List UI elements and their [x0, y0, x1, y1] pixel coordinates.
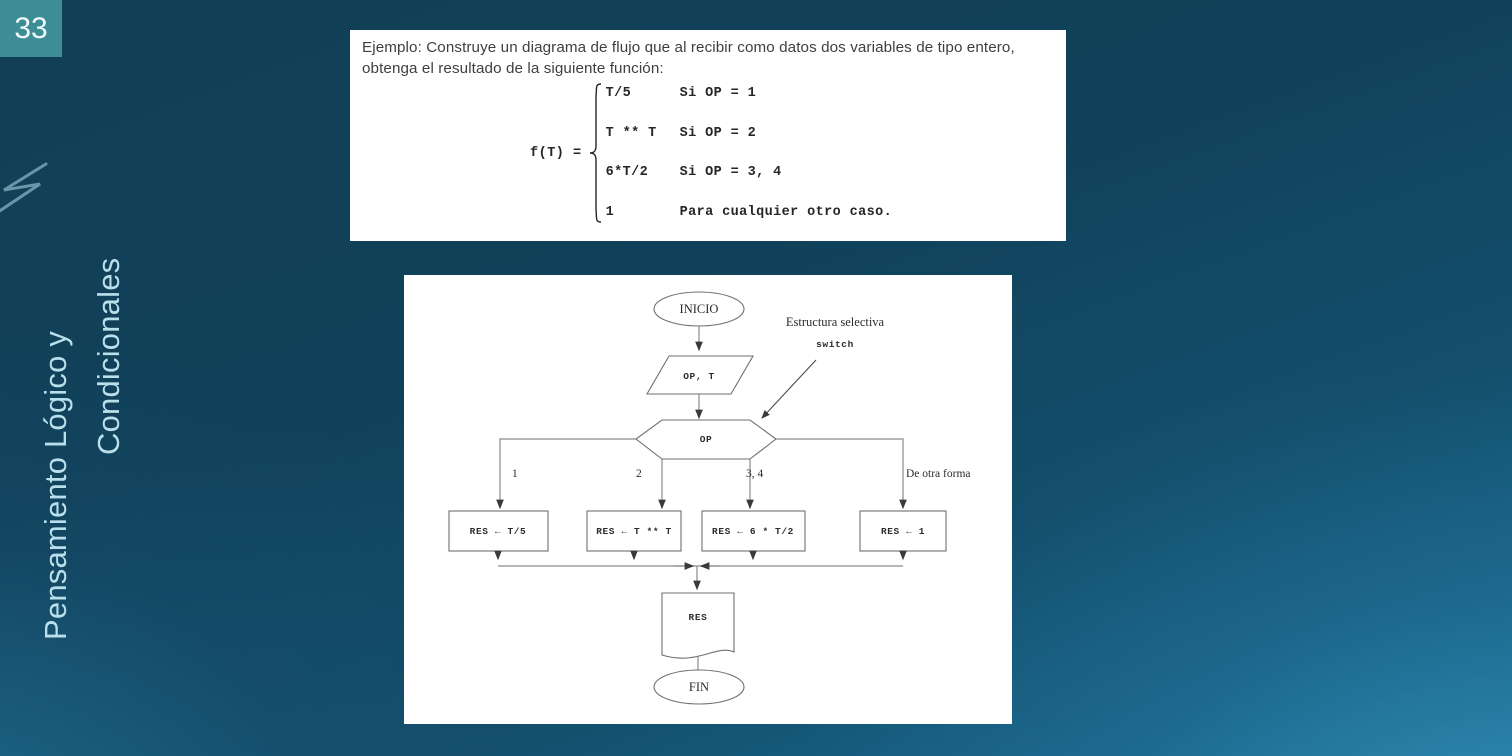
- flowchart-annotation: Estructura selectiva switch: [762, 315, 885, 418]
- case-expression: 1: [606, 205, 680, 220]
- flow-node-input: OP, T: [647, 356, 753, 394]
- case-condition: Si OP = 3, 4: [680, 165, 782, 180]
- branch-label-2: 2: [636, 468, 642, 480]
- flowchart-card: INICIO OP, T OP Estructura selectiva swi…: [404, 275, 1012, 724]
- flow-node-process-4-label: RES ← 1: [881, 526, 925, 537]
- flow-node-process-1-label: RES ← T/5: [470, 526, 527, 537]
- flow-node-process-3: RES ← 6 * T/2: [702, 511, 805, 551]
- function-label: f(T) =: [530, 146, 582, 161]
- flow-node-process-3-label: RES ← 6 * T/2: [712, 526, 794, 537]
- prompt-card: Ejemplo: Construye un diagrama de flujo …: [350, 30, 1066, 241]
- function-case: 6*T/2 Si OP = 3, 4: [606, 165, 893, 180]
- function-case: T ** T Si OP = 2: [606, 126, 893, 141]
- branch-label-4: De otra forma: [906, 468, 971, 480]
- prompt-text: Ejemplo: Construye un diagrama de flujo …: [362, 37, 1060, 79]
- flow-node-process-4: RES ← 1: [860, 511, 946, 551]
- flow-node-start-label: INICIO: [680, 302, 719, 316]
- case-expression: T/5: [606, 86, 680, 101]
- annotation-line-2: switch: [816, 339, 854, 350]
- branch-label-3: 3, 4: [746, 468, 764, 480]
- sidebar-title-line-1: Pensamiento Lógico y: [38, 331, 74, 640]
- slide-canvas: 33 Pensamiento Lógico y Condicionales Ej…: [0, 0, 1512, 756]
- case-expression: 6*T/2: [606, 165, 680, 180]
- brace-icon: [588, 82, 604, 224]
- case-condition: Si OP = 2: [680, 126, 757, 141]
- flow-node-output-label: RES: [689, 612, 708, 623]
- sidebar-title: Pensamiento Lógico y Condicionales: [0, 0, 110, 756]
- function-case: T/5 Si OP = 1: [606, 86, 893, 101]
- flow-node-start: INICIO: [654, 292, 744, 326]
- flow-node-decision: OP: [636, 420, 776, 459]
- flow-node-end: FIN: [654, 670, 744, 704]
- flow-node-output: RES: [662, 593, 734, 658]
- flow-node-process-1: RES ← T/5: [449, 511, 548, 551]
- annotation-line-1: Estructura selectiva: [786, 315, 885, 329]
- piecewise-function: f(T) = T/5 Si OP = 1 T ** T Si OP = 2 6*…: [530, 82, 892, 224]
- case-expression: T ** T: [606, 126, 680, 141]
- flow-node-end-label: FIN: [689, 680, 709, 694]
- flow-node-decision-label: OP: [700, 434, 713, 445]
- sidebar-title-line-2: Condicionales: [91, 258, 127, 455]
- flow-node-process-2-label: RES ← T ** T: [596, 526, 672, 537]
- flow-node-input-label: OP, T: [683, 371, 715, 382]
- flow-node-process-2: RES ← T ** T: [587, 511, 681, 551]
- case-condition: Si OP = 1: [680, 86, 757, 101]
- flowchart-diagram: INICIO OP, T OP Estructura selectiva swi…: [404, 275, 1012, 724]
- branch-label-1: 1: [512, 468, 518, 480]
- function-case: 1 Para cualquier otro caso.: [606, 205, 893, 220]
- case-condition: Para cualquier otro caso.: [680, 205, 893, 220]
- function-cases: T/5 Si OP = 1 T ** T Si OP = 2 6*T/2 Si …: [606, 82, 893, 224]
